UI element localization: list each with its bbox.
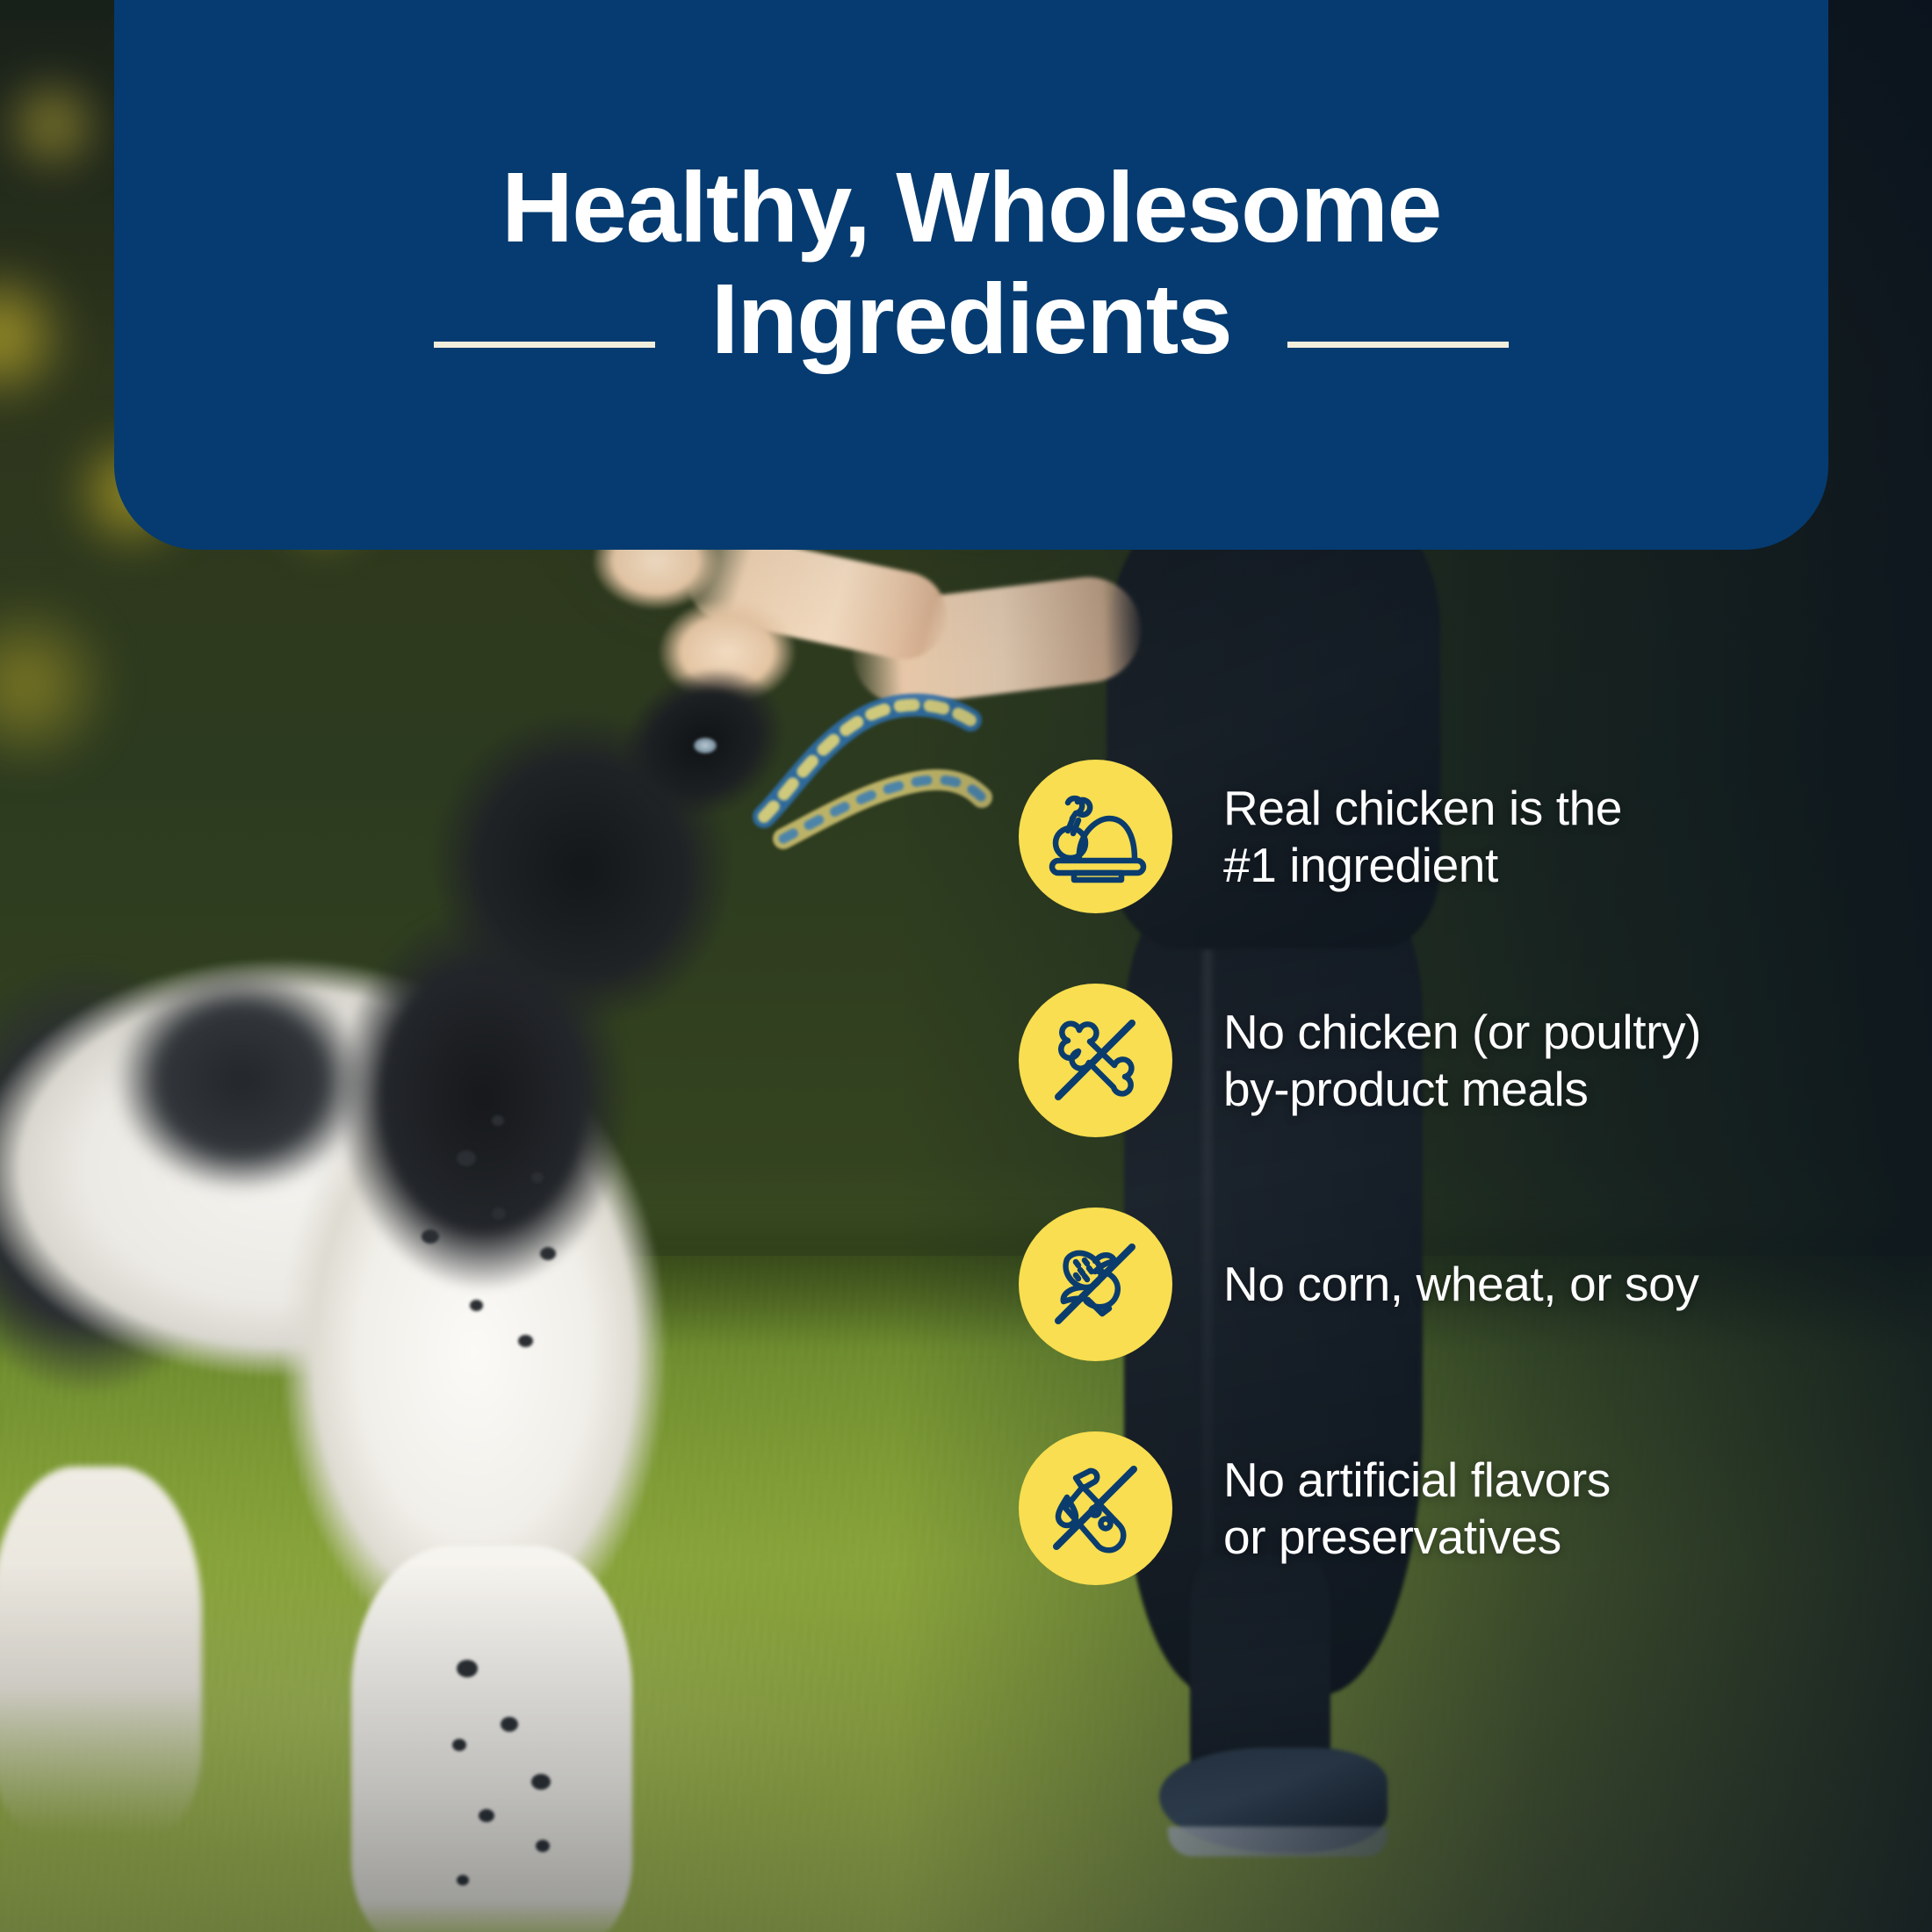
feature-text-line-1: No artificial flavors [1223,1452,1611,1509]
title-dash-left-icon [434,342,655,348]
photo-bottom-scrim [0,1563,1932,1932]
header-card: Healthy, Wholesome Ingredients [114,0,1828,550]
feature-text-line-2: by-product meals [1223,1061,1701,1118]
dog-eye [694,738,717,753]
feature-text-line-1: No chicken (or poultry) [1223,1004,1701,1061]
title-dash-right-icon [1287,342,1509,348]
feature-item-no-artificial: No artificial flavors or preservatives [1019,1431,1897,1585]
feature-text-no-artificial: No artificial flavors or preservatives [1223,1452,1611,1566]
feature-text-line-1: Real chicken is the [1223,780,1622,837]
feature-item-no-grains: No corn, wheat, or soy [1019,1207,1897,1361]
title-line-2: Ingredients [711,261,1232,378]
promo-graphic-canvas: Healthy, Wholesome Ingredients [0,0,1932,1932]
title-row-2: Ingredients [114,261,1828,378]
feature-text-line-2: #1 ingredient [1223,837,1622,894]
feature-text-no-byproducts: No chicken (or poultry) by-product meals [1223,1004,1701,1118]
feature-text-no-grains: No corn, wheat, or soy [1223,1256,1698,1313]
roast-chicken-platter-icon [1019,760,1172,913]
title-line-1: Healthy, Wholesome [114,149,1828,266]
page-title: Healthy, Wholesome Ingredients [114,149,1828,378]
no-corn-icon [1019,1207,1172,1361]
feature-text-line-2: or preservatives [1223,1509,1611,1566]
no-test-tube-icon [1019,1431,1172,1585]
no-bone-icon [1019,984,1172,1137]
feature-text-line-1: No corn, wheat, or soy [1223,1256,1698,1313]
feature-item-no-byproducts: No chicken (or poultry) by-product meals [1019,984,1897,1137]
feature-list: Real chicken is the #1 ingredient No chi… [1019,760,1897,1585]
feature-text-real-chicken: Real chicken is the #1 ingredient [1223,780,1622,894]
feature-item-real-chicken: Real chicken is the #1 ingredient [1019,760,1897,913]
